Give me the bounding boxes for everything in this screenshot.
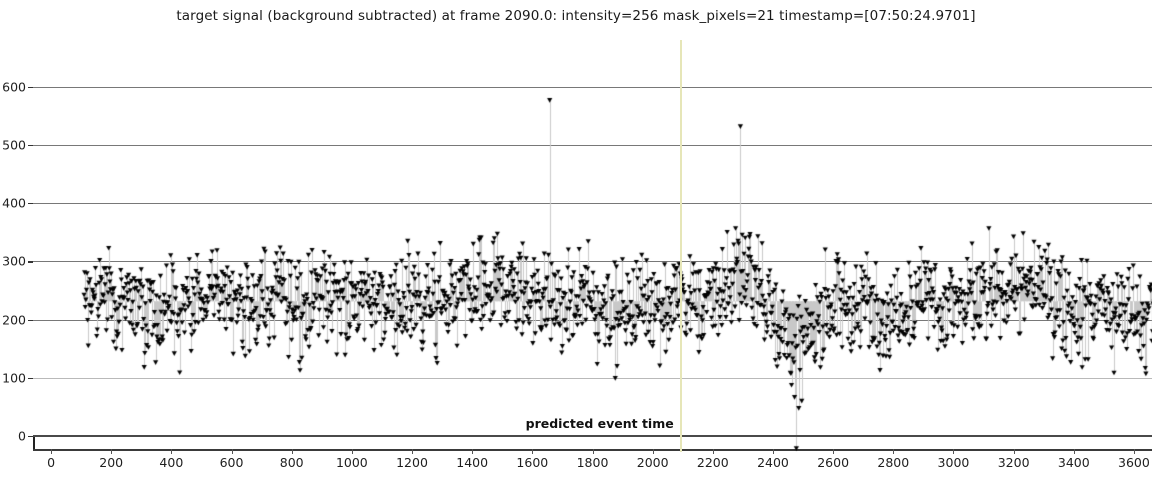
x-tick-label-3200: 3200 <box>984 455 1044 470</box>
x-tick-mark-1200 <box>412 449 413 454</box>
x-tick-mark-2400 <box>773 449 774 454</box>
y-tick-label-200: 200 <box>0 312 26 327</box>
y-tick-label-400: 400 <box>0 196 26 211</box>
zero-baseline <box>33 435 1152 437</box>
x-tick-label-2000: 2000 <box>623 455 683 470</box>
y-tick-label-0: 0 <box>0 429 26 444</box>
x-tick-label-1400: 1400 <box>442 455 502 470</box>
x-tick-mark-2200 <box>713 449 714 454</box>
y-tick-mark-300 <box>28 261 33 262</box>
x-tick-mark-800 <box>292 449 293 454</box>
x-tick-mark-0 <box>51 449 52 454</box>
x-tick-mark-1800 <box>593 449 594 454</box>
x-tick-label-3400: 3400 <box>1044 455 1104 470</box>
x-tick-mark-3200 <box>1014 449 1015 454</box>
y-tick-mark-100 <box>28 378 33 379</box>
y-tick-mark-500 <box>28 145 33 146</box>
plot-area <box>33 40 1152 436</box>
x-tick-label-1200: 1200 <box>382 455 442 470</box>
x-tick-mark-3600 <box>1134 449 1135 454</box>
x-tick-label-3600: 3600 <box>1104 455 1152 470</box>
x-tick-label-1000: 1000 <box>322 455 382 470</box>
x-tick-label-3000: 3000 <box>923 455 983 470</box>
chart-figure: target signal (background subtracted) at… <box>0 0 1152 477</box>
x-tick-label-1600: 1600 <box>502 455 562 470</box>
x-tick-label-800: 800 <box>262 455 322 470</box>
y-tick-mark-0 <box>28 436 33 437</box>
chart-title: target signal (background subtracted) at… <box>0 8 1152 24</box>
x-tick-label-2400: 2400 <box>743 455 803 470</box>
x-tick-mark-2800 <box>893 449 894 454</box>
x-tick-mark-2600 <box>833 449 834 454</box>
x-tick-label-0: 0 <box>21 455 81 470</box>
x-tick-label-2600: 2600 <box>803 455 863 470</box>
x-tick-mark-3400 <box>1074 449 1075 454</box>
y-tick-label-600: 600 <box>0 79 26 94</box>
y-tick-label-500: 500 <box>0 137 26 152</box>
x-tick-label-2200: 2200 <box>683 455 743 470</box>
predicted-event-vline <box>680 40 682 452</box>
x-tick-label-200: 200 <box>81 455 141 470</box>
y-tick-label-300: 300 <box>0 254 26 269</box>
x-tick-mark-400 <box>171 449 172 454</box>
x-tick-mark-200 <box>111 449 112 454</box>
y-tick-mark-200 <box>28 320 33 321</box>
x-tick-label-600: 600 <box>202 455 262 470</box>
y-tick-mark-400 <box>28 203 33 204</box>
x-tick-mark-1400 <box>472 449 473 454</box>
x-tick-mark-1000 <box>352 449 353 454</box>
x-tick-label-1800: 1800 <box>563 455 623 470</box>
x-tick-label-400: 400 <box>141 455 201 470</box>
x-tick-mark-2000 <box>653 449 654 454</box>
y-tick-mark-600 <box>28 87 33 88</box>
x-tick-mark-1600 <box>532 449 533 454</box>
x-tick-mark-600 <box>232 449 233 454</box>
x-tick-mark-3000 <box>953 449 954 454</box>
x-tick-label-2800: 2800 <box>863 455 923 470</box>
predicted-event-label: predicted event time <box>526 416 680 431</box>
y-tick-label-100: 100 <box>0 370 26 385</box>
